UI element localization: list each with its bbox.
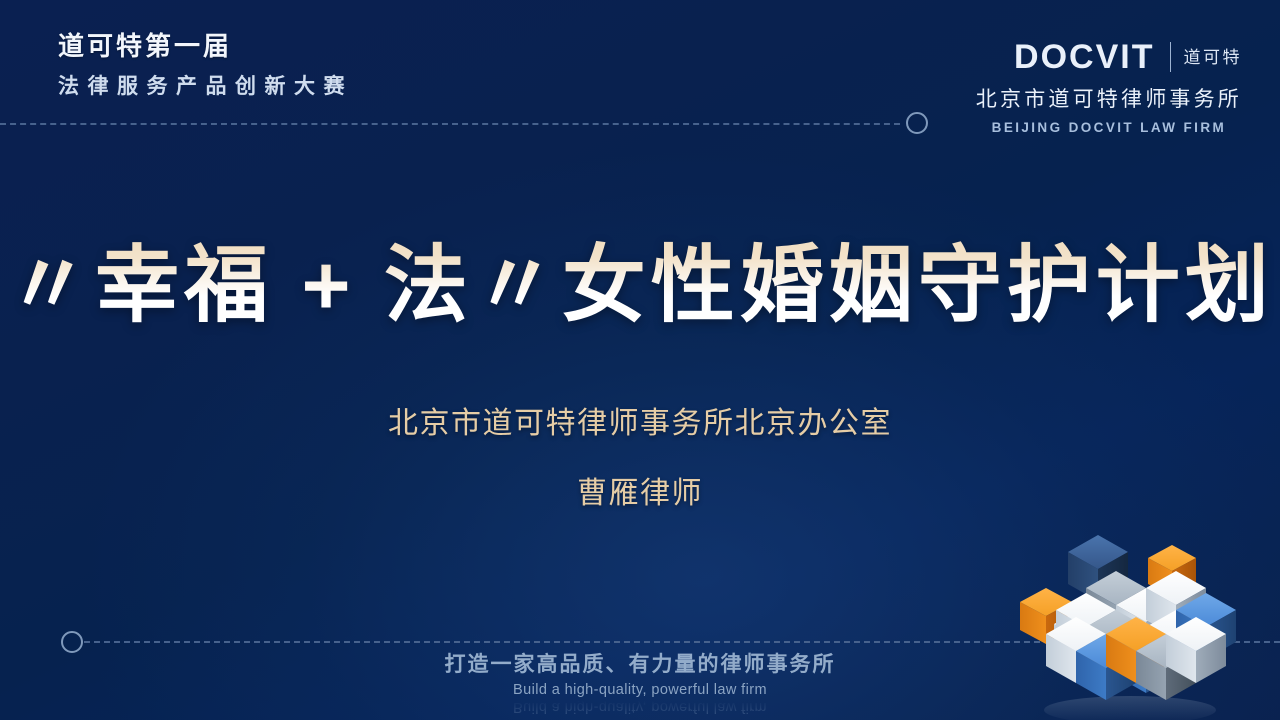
rubiks-cube-graphic [990, 514, 1270, 720]
cube-reflection [1044, 696, 1216, 720]
subtitle-presenter: 曹雁律师 [0, 468, 1280, 512]
header-title-line1: 道可特第一届 [58, 30, 353, 63]
circle-marker-bottom [61, 631, 83, 653]
logo-top-row: DOCVIT 道可特 [976, 40, 1242, 74]
presentation-slide: 道可特第一届 法律服务产品创新大赛 DOCVIT 道可特 北京市道可特律师事务所… [0, 0, 1280, 720]
subtitle-block: 北京市道可特律师事务所北京办公室 曹雁律师 [0, 398, 1280, 512]
logo-divider [1170, 42, 1171, 72]
docvit-logo: DOCVIT 道可特 北京市道可特律师事务所 BEIJING DOCVIT LA… [976, 40, 1242, 135]
subtitle-office: 北京市道可特律师事务所北京办公室 [0, 398, 1280, 442]
title-block: 〃幸福 + 法〃女性婚姻守护计划 [0, 238, 1280, 332]
circle-marker-top [906, 112, 928, 134]
logo-brand-en: DOCVIT [1014, 40, 1154, 74]
logo-firm-en: BEIJING DOCVIT LAW FIRM [976, 120, 1242, 135]
slide-main-title: 〃幸福 + 法〃女性婚姻守护计划 [6, 238, 1274, 332]
logo-brand-cn: 道可特 [1184, 49, 1243, 66]
logo-firm-cn: 北京市道可特律师事务所 [976, 83, 1242, 113]
dashed-rule-top [0, 123, 900, 125]
header-block: 道可特第一届 法律服务产品创新大赛 [58, 30, 353, 99]
header-title-line2: 法律服务产品创新大赛 [58, 74, 353, 99]
